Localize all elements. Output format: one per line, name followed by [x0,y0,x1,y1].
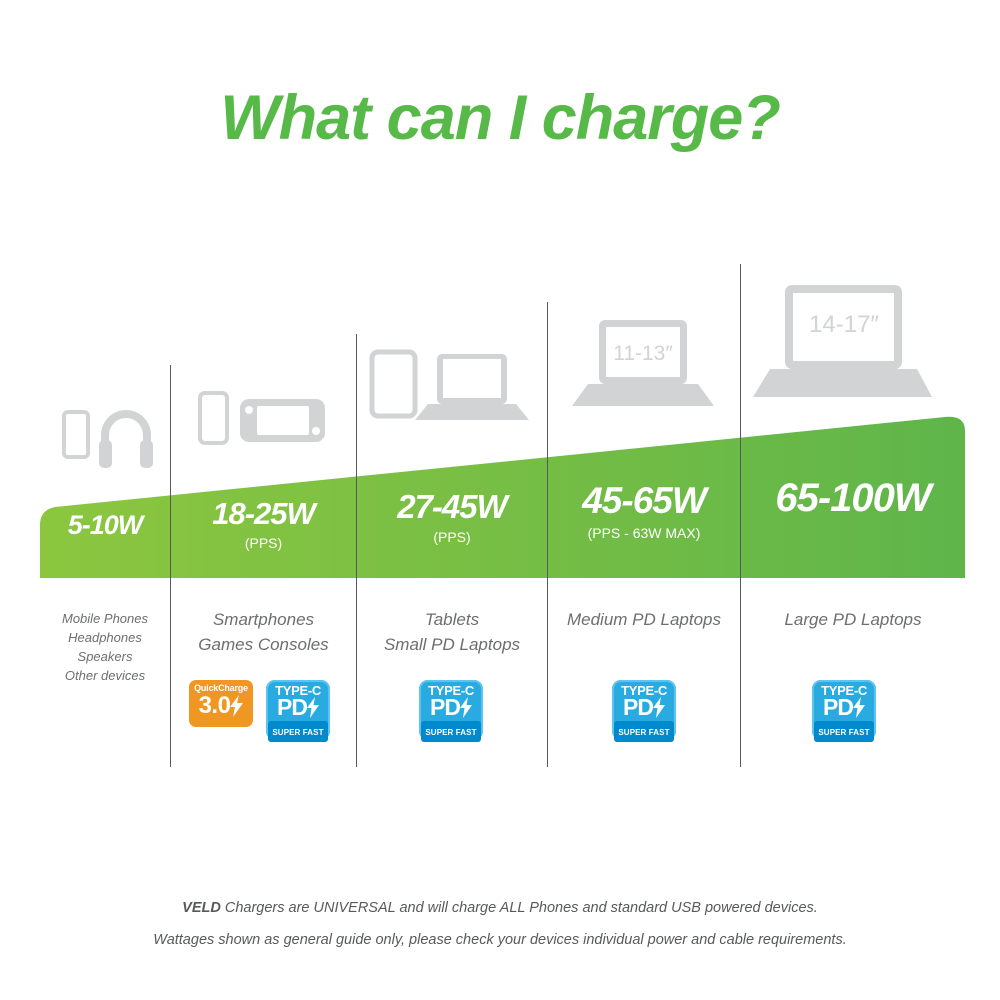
pd-label: PD [623,696,653,719]
pd-row: PD [823,696,865,719]
lightning-bolt-icon [853,697,865,718]
desc-4-line-1: Medium PD Laptops [548,608,740,633]
desc-5: Large PD Laptops [741,608,965,633]
super-fast-pill: SUPER FAST [814,721,873,742]
footer-line-1-rest: Chargers are UNIVERSAL and will charge A… [221,900,818,916]
desc-1-line-1: Mobile Phones [40,610,170,629]
tablet-outline-icon [372,352,415,416]
desc-1-line-4: Other devices [40,667,170,686]
pd-label: PD [823,696,853,719]
footer-line-2: Wattages shown as general guide only, pl… [0,932,1000,948]
desc-2-line-2: Games Consoles [171,633,356,658]
watt-group-5: 65-100W [741,478,965,518]
footer-brand: VELD [182,900,221,916]
footer-line-1: VELD Chargers are UNIVERSAL and will cha… [0,900,1000,916]
desc-1-line-2: Headphones [40,629,170,648]
watt-sub-4: (PPS - 63W MAX) [548,526,740,540]
desc-3: Tablets Small PD Laptops [357,608,547,657]
divider-1 [170,365,171,767]
medium-laptop-icon: 11-13″ [572,320,714,406]
super-fast-pill: SUPER FAST [614,721,673,742]
badge-row-5: TYPE-C PD SUPER FAST [812,680,876,740]
infographic-page: What can I charge? [0,0,1000,1000]
lightning-bolt-icon [307,697,319,718]
type-c-pd-badge[interactable]: TYPE-C PD SUPER FAST [812,680,876,740]
lightning-bolt-icon [230,695,243,717]
watt-group-2: 18-25W (PPS) [171,498,356,550]
footer: VELD Chargers are UNIVERSAL and will cha… [0,900,1000,916]
watt-sub-2: (PPS) [171,536,356,550]
pd-row: PD [430,696,472,719]
quickcharge-version: 3.0 [199,694,244,718]
desc-2-line-1: Smartphones [171,608,356,633]
divider-2 [356,334,357,767]
desc-5-line-1: Large PD Laptops [741,608,965,633]
lightning-bolt-icon [653,697,665,718]
desc-3-line-1: Tablets [357,608,547,633]
desc-3-line-2: Small PD Laptops [357,633,547,658]
type-c-pd-badge[interactable]: TYPE-C PD SUPER FAST [419,680,483,740]
watt-label-3: 27-45W [357,490,547,523]
desc-1-line-3: Speakers [40,648,170,667]
lightning-bolt-icon [460,697,472,718]
pd-row: PD [277,696,319,719]
desc-4: Medium PD Laptops [548,608,740,633]
footer-2: Wattages shown as general guide only, pl… [0,932,1000,948]
badge-row-2: QuickCharge 3.0 TYPE-C PD SUPER FAST [189,680,330,740]
quickcharge-version-text: 3.0 [199,694,231,718]
super-fast-pill: SUPER FAST [421,721,480,742]
super-fast-pill: SUPER FAST [268,721,327,742]
type-c-pd-badge[interactable]: TYPE-C PD SUPER FAST [266,680,330,740]
pd-row: PD [623,696,665,719]
type-c-pd-badge[interactable]: TYPE-C PD SUPER FAST [612,680,676,740]
super-fast-label: SUPER FAST [818,728,869,737]
super-fast-label: SUPER FAST [272,728,323,737]
watt-label-1: 5-10W [40,512,170,539]
badge-row-3: TYPE-C PD SUPER FAST [419,680,483,740]
desc-1: Mobile Phones Headphones Speakers Other … [40,610,170,685]
watt-group-3: 27-45W (PPS) [357,490,547,544]
watt-group-1: 5-10W [40,512,170,539]
watt-label-2: 18-25W [171,498,356,529]
watt-label-4: 45-65W [548,482,740,519]
watt-label-5: 65-100W [741,478,965,518]
medium-laptop-screen-label: 11-13″ [613,342,673,365]
watt-group-4: 45-65W (PPS - 63W MAX) [548,482,740,540]
desc-2: Smartphones Games Consoles [171,608,356,657]
small-laptop-icon [415,354,529,420]
super-fast-label: SUPER FAST [425,728,476,737]
pd-label: PD [430,696,460,719]
large-laptop-icon: 14-17″ [753,285,932,397]
pd-label: PD [277,696,307,719]
watt-sub-3: (PPS) [357,530,547,544]
badge-row-4: TYPE-C PD SUPER FAST [612,680,676,740]
large-laptop-screen-label: 14-17″ [809,311,879,338]
quickcharge-3-badge[interactable]: QuickCharge 3.0 [189,680,253,727]
super-fast-label: SUPER FAST [618,728,669,737]
